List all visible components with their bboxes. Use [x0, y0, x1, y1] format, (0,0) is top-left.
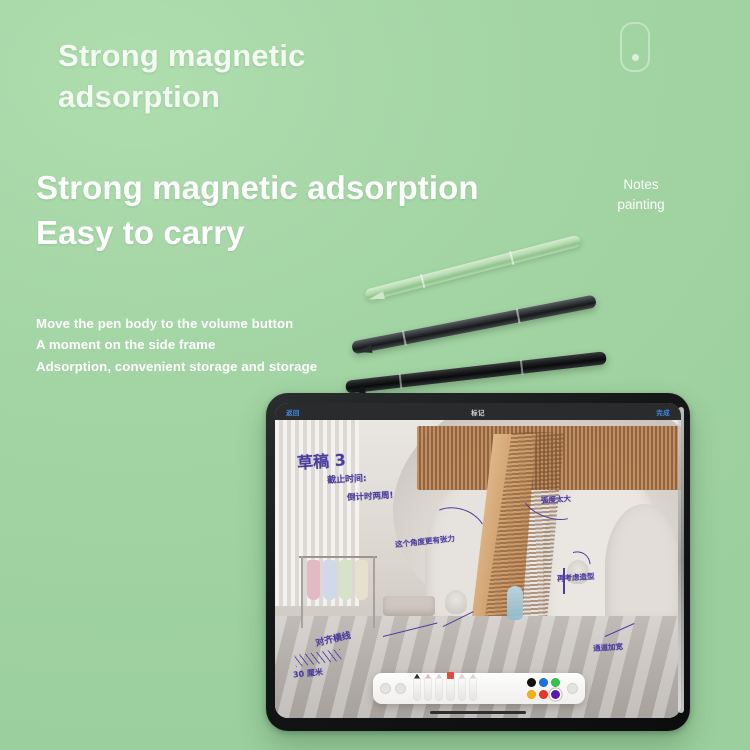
swatch-green[interactable]	[551, 678, 560, 687]
stylus-pen-icon	[620, 22, 650, 72]
swatch-yellow[interactable]	[527, 690, 536, 699]
rack-bar	[299, 556, 377, 558]
main-heading-line2: Easy to carry	[36, 211, 596, 256]
rack-leg	[373, 556, 375, 628]
feature-description: Move the pen body to the volume button A…	[36, 313, 366, 377]
tool-group[interactable]	[414, 678, 476, 700]
stylus-black	[345, 351, 607, 394]
tool-ruler[interactable]	[470, 678, 476, 700]
pen-tip-dot	[632, 54, 639, 61]
stylus-dark-gray	[351, 294, 597, 354]
color-swatches[interactable]	[527, 678, 560, 699]
annotation-deadline: 截止时间:	[327, 471, 367, 486]
tablet-device: 返回 标记 完成	[266, 393, 690, 731]
main-heading-line1: Strong magnetic adsorption	[36, 169, 479, 206]
annotation-aisle: 通道加宽	[593, 641, 624, 654]
annotation-draft-title: 草稿 3	[296, 446, 346, 473]
home-indicator	[430, 711, 526, 714]
redo-icon[interactable]	[395, 683, 406, 694]
swatch-blue[interactable]	[539, 678, 548, 687]
tool-pen[interactable]	[414, 678, 420, 700]
notes-label-line2: painting	[588, 195, 694, 215]
garment	[307, 560, 320, 600]
swatch-purple[interactable]	[551, 690, 560, 699]
undo-icon[interactable]	[380, 683, 391, 694]
notes-painting-label: Notes painting	[588, 175, 694, 216]
display-bench	[383, 596, 435, 616]
rack-leg	[301, 556, 303, 628]
annotation-arc: 弧度太大	[541, 493, 572, 506]
more-options-icon[interactable]	[567, 683, 578, 694]
garment	[355, 560, 368, 600]
annotation-countdown: 倒计时两周!	[347, 489, 394, 503]
feature-line-1: Move the pen body to the volume button	[36, 313, 366, 334]
tool-pencil[interactable]	[425, 678, 431, 700]
mannequin	[507, 586, 523, 620]
arch-right	[605, 504, 681, 630]
done-button[interactable]: 完成	[656, 407, 670, 417]
clothing-rack	[299, 556, 377, 630]
feature-line-2: A moment on the side frame	[36, 334, 366, 355]
notes-label-line1: Notes	[588, 175, 694, 195]
back-button[interactable]: 返回	[286, 407, 300, 417]
drawing-toolbar[interactable]	[373, 673, 585, 704]
tool-eraser[interactable]	[459, 678, 465, 700]
garment	[339, 560, 352, 600]
pen-barrel	[345, 351, 607, 394]
tool-marker[interactable]	[447, 678, 454, 700]
pen-barrel	[351, 294, 597, 354]
app-title: 标记	[471, 407, 485, 417]
feature-line-3: Adsorption, convenient storage and stora…	[36, 356, 366, 377]
page-title: Strong magnetic adsorption Easy to carry	[36, 166, 596, 255]
tablet-screen[interactable]: 返回 标记 完成	[275, 403, 681, 718]
swatch-red[interactable]	[539, 690, 548, 699]
garment	[323, 560, 336, 600]
decor-plant	[445, 590, 467, 614]
swatch-black[interactable]	[527, 678, 536, 687]
poster-canvas: Strong magnetic adsorption Strong magnet…	[0, 0, 750, 750]
sub-heading: Strong magnetic adsorption	[58, 36, 478, 118]
tool-ink-pen[interactable]	[436, 678, 442, 700]
app-toolbar: 返回 标记 完成	[275, 403, 681, 420]
